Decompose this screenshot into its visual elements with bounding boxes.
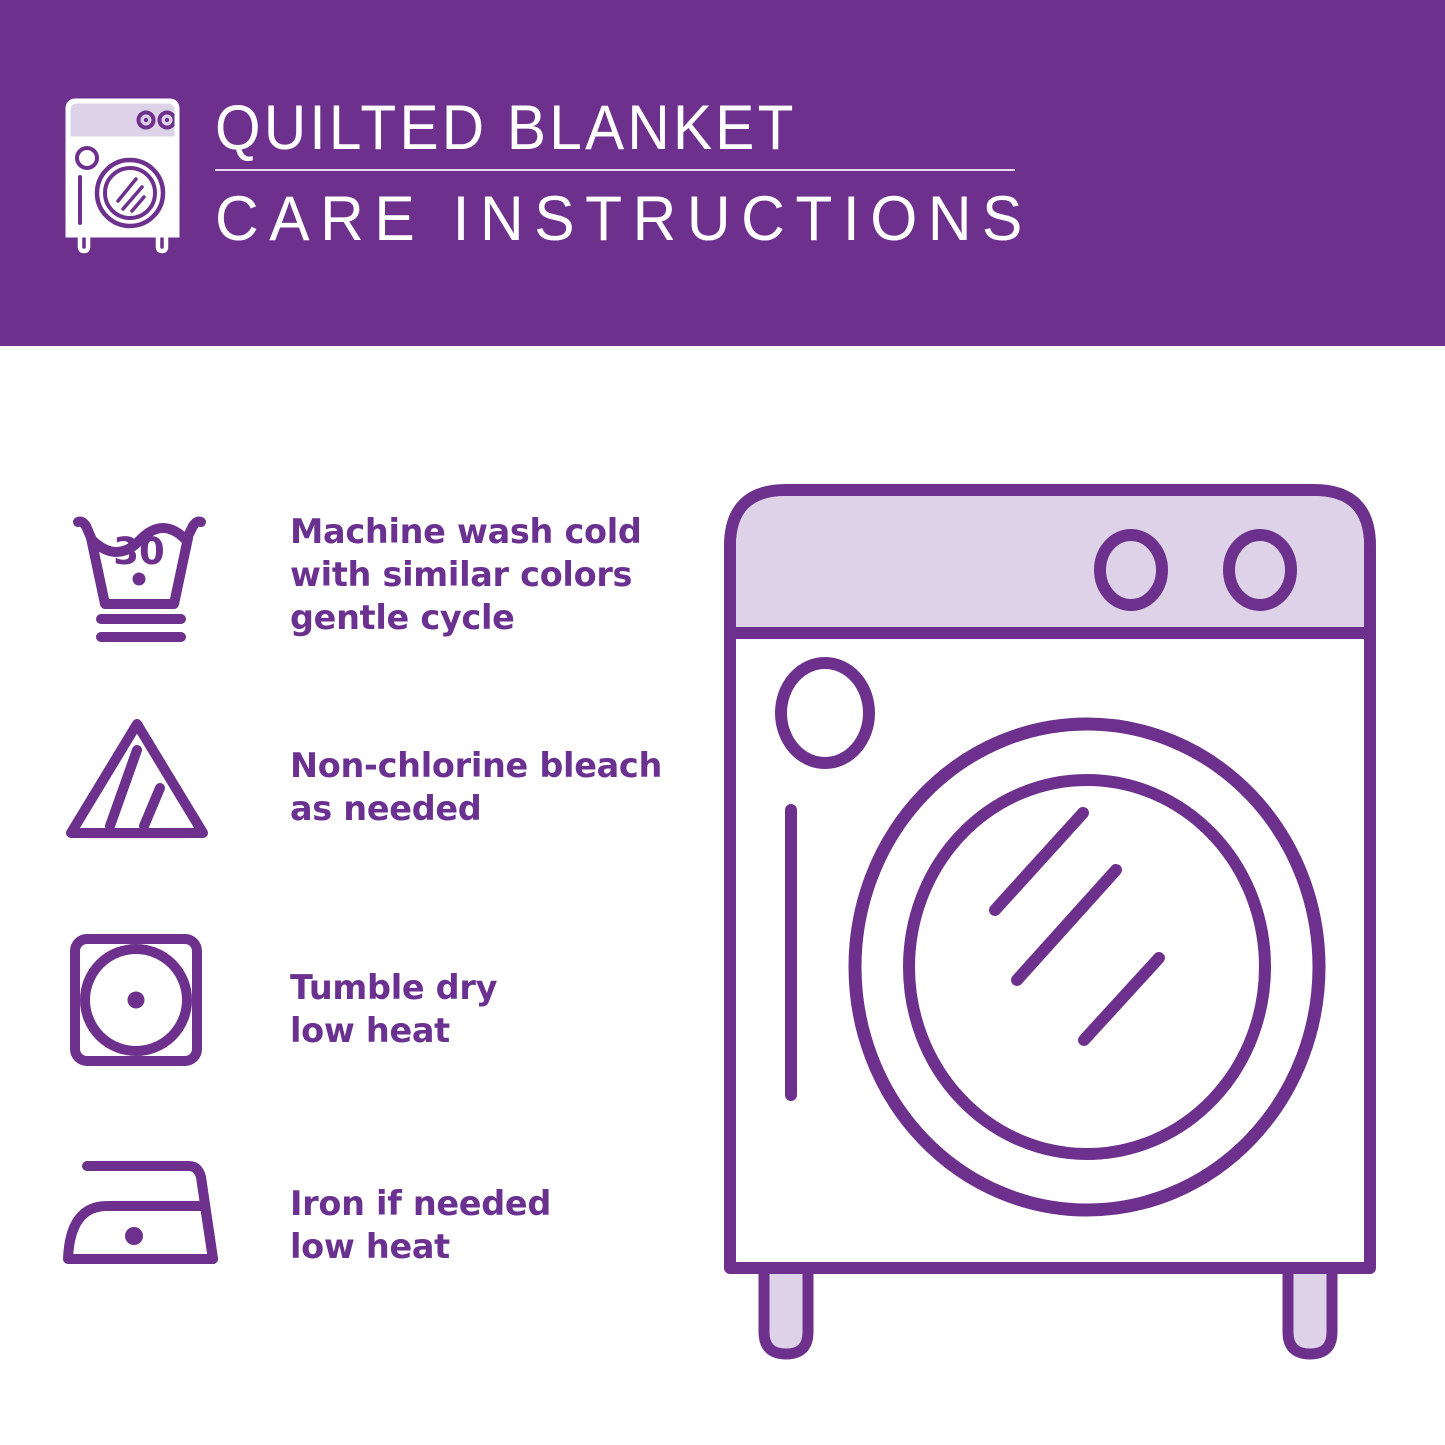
header-content: QUILTED BLANKET CARE INSTRUCTIONS bbox=[60, 95, 1060, 255]
page-subtitle: CARE INSTRUCTIONS bbox=[215, 181, 1012, 257]
non-chlorine-bleach-triangle-icon bbox=[62, 708, 232, 868]
care-instructions-infographic: QUILTED BLANKET CARE INSTRUCTIONS 30 bbox=[0, 0, 1445, 1445]
care-item-tumble-dry-label: Tumble dry low heat bbox=[290, 966, 497, 1052]
care-item-bleach-label: Non-chlorine bleach as needed bbox=[290, 744, 662, 830]
page-title: QUILTED BLANKET bbox=[215, 91, 987, 165]
title-divider bbox=[215, 169, 1015, 171]
wash-temperature-label: 30 bbox=[113, 530, 165, 573]
front-load-washing-machine-illustration bbox=[720, 470, 1420, 1370]
tumble-dry-low-heat-icon bbox=[62, 926, 232, 1086]
wash-tub-30-gentle-icon: 30 bbox=[62, 496, 232, 656]
care-item-wash-label: Machine wash cold with similar colors ge… bbox=[290, 510, 642, 639]
washing-machine-icon bbox=[60, 95, 185, 255]
care-item-iron-label: Iron if needed low heat bbox=[290, 1182, 551, 1268]
iron-low-heat-icon bbox=[62, 1146, 232, 1306]
header-banner: QUILTED BLANKET CARE INSTRUCTIONS bbox=[0, 0, 1445, 346]
header-titles: QUILTED BLANKET CARE INSTRUCTIONS bbox=[215, 91, 1045, 257]
care-instruction-list: 30 Machine wash cold with similar colors… bbox=[0, 346, 700, 1445]
